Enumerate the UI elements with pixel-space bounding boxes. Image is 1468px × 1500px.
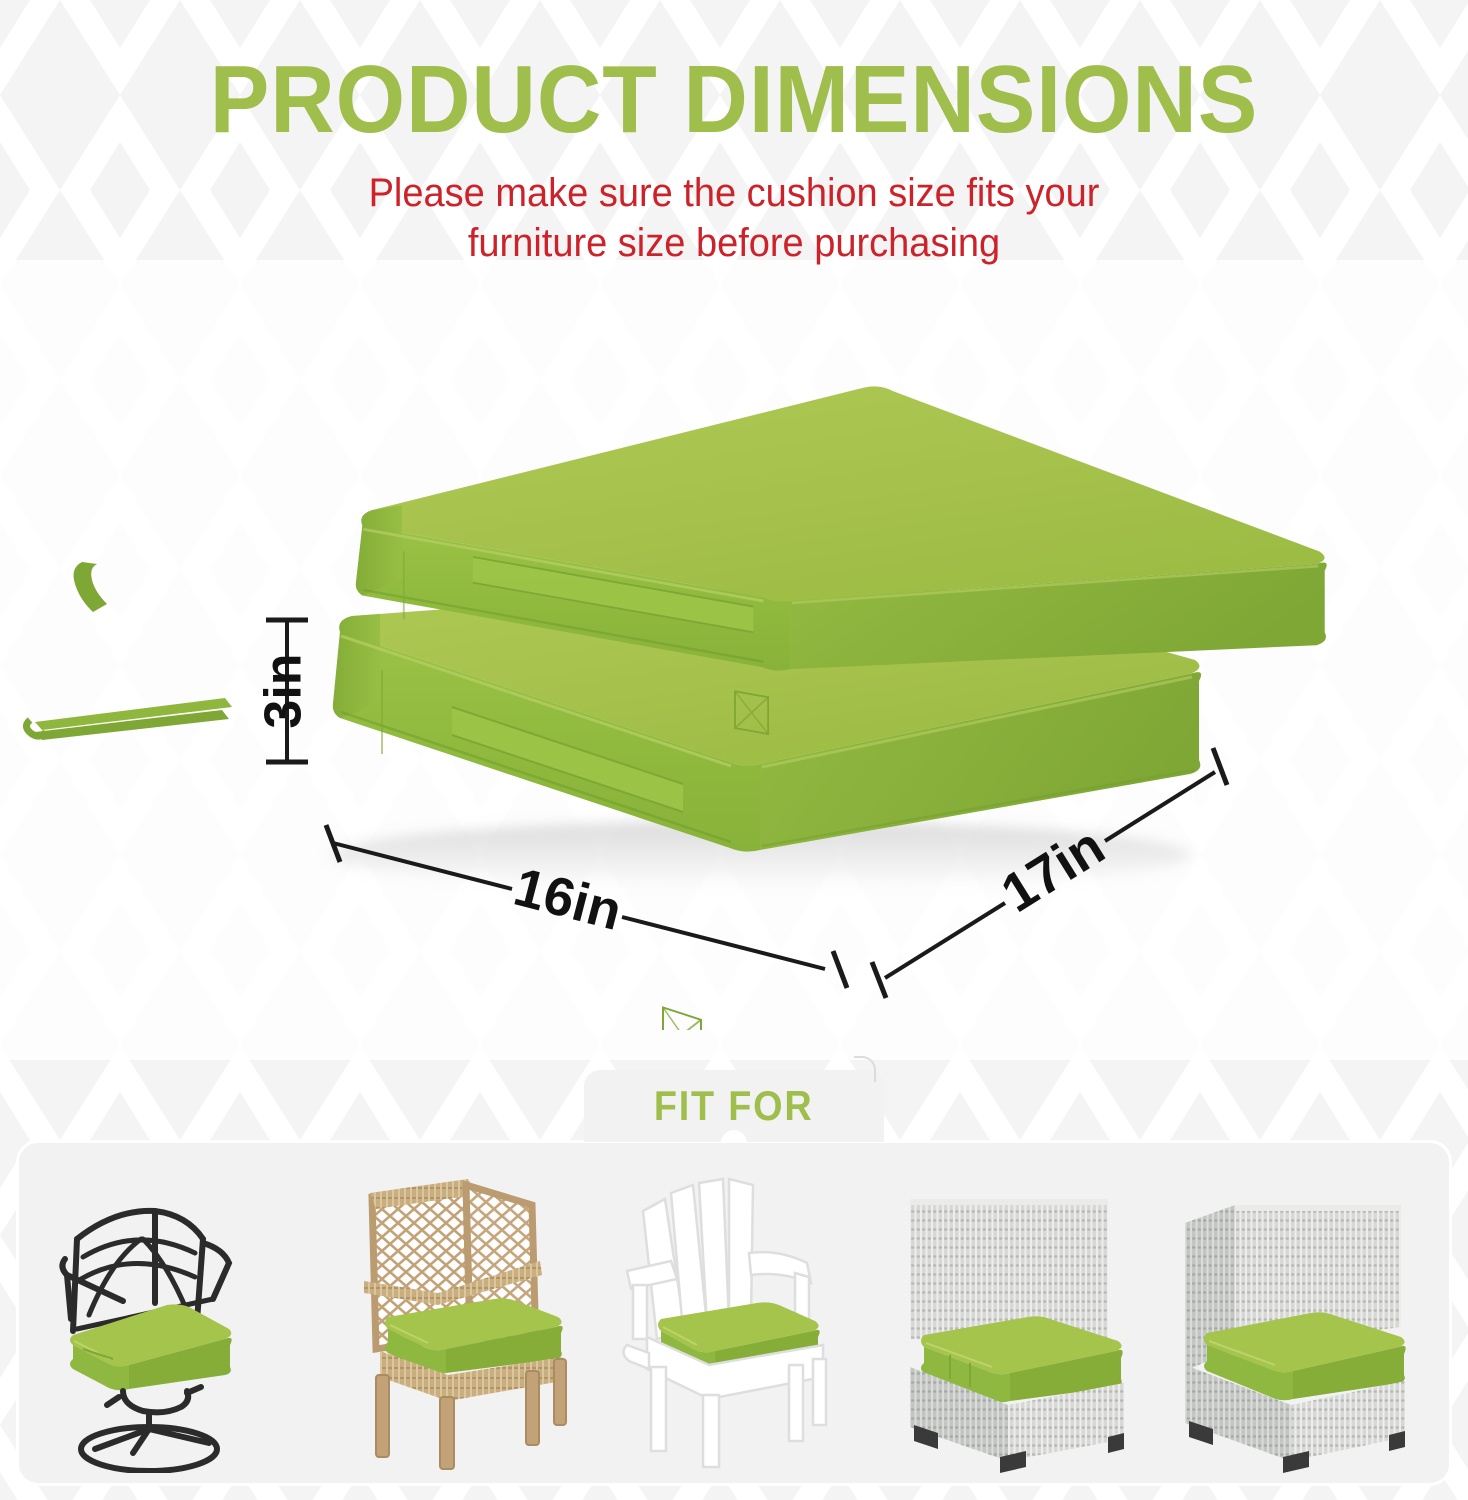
width-dim-line-right <box>622 917 825 969</box>
fit-item-swivel-dining-chair <box>37 1153 307 1473</box>
product-dimension-stage: 3in 16in 17in <box>0 330 1468 1030</box>
product-dimensions-infographic: PRODUCT DIMENSIONS Please make sure the … <box>0 0 1468 1500</box>
fit-for-label: FIT FOR <box>654 1082 814 1130</box>
cushion-bottom-left-face <box>333 614 380 718</box>
width-tick-right <box>833 951 847 988</box>
depth-tick-left <box>872 962 886 998</box>
subtitle-line-2: furniture size before purchasing <box>37 218 1432 268</box>
subtitle: Please make sure the cushion size fits y… <box>37 168 1432 268</box>
handle-stitch-box <box>663 1007 701 1030</box>
fit-for-tab: FIT FOR <box>584 1070 884 1142</box>
fit-item-corner-sectional <box>1161 1153 1431 1473</box>
page-title: PRODUCT DIMENSIONS <box>51 48 1416 152</box>
depth-tick-right <box>1213 748 1227 785</box>
fit-item-wicker-armchair <box>318 1153 588 1473</box>
fit-for-gallery <box>16 1140 1452 1486</box>
header: PRODUCT DIMENSIONS Please make sure the … <box>0 0 1468 268</box>
fit-item-armless-sectional <box>880 1153 1150 1473</box>
cushion-on-swivel-chair <box>70 1304 232 1390</box>
fit-item-adirondack-chair <box>599 1153 869 1473</box>
subtitle-line-1: Please make sure the cushion size fits y… <box>37 168 1432 218</box>
tab-hook-icon <box>854 1056 876 1082</box>
depth-dim-line-left <box>885 903 1005 978</box>
tab-notch <box>721 1130 747 1143</box>
